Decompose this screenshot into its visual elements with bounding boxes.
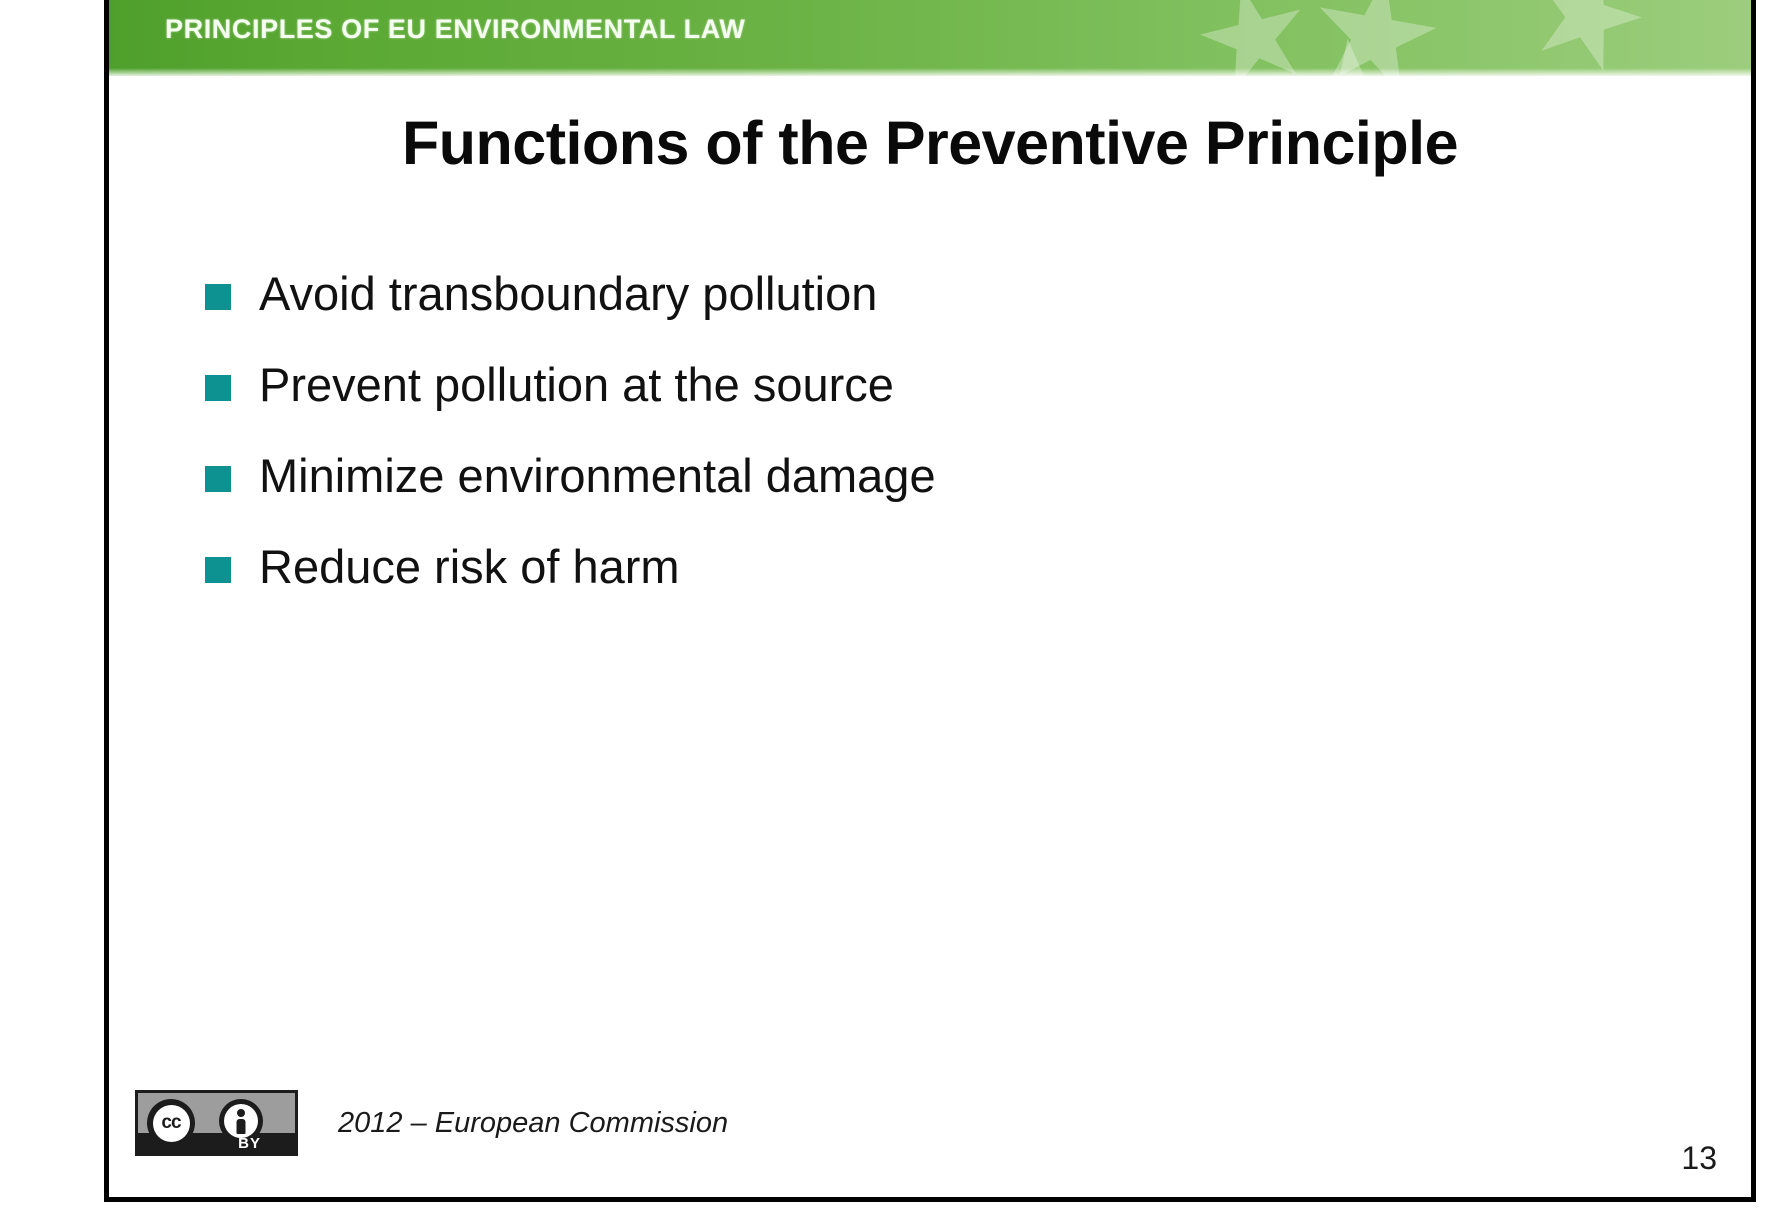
list-item-label: Reduce risk of harm — [259, 543, 680, 591]
square-bullet-icon — [205, 375, 231, 401]
badge-by-label: BY — [238, 1135, 261, 1152]
cc-logo-label: cc — [153, 1105, 190, 1142]
list-item: Minimize environmental damage — [205, 452, 1605, 500]
page-title: Functions of the Preventive Principle — [109, 108, 1751, 178]
bullet-list: Avoid transboundary pollution Prevent po… — [205, 270, 1605, 634]
cc-logo-icon: cc — [147, 1099, 195, 1147]
list-item-label: Minimize environmental damage — [259, 452, 936, 500]
footer-credit-text: 2012 – European Commission — [338, 1107, 728, 1140]
list-item: Prevent pollution at the source — [205, 361, 1605, 409]
eu-star-icon — [1295, 0, 1455, 76]
list-item-label: Avoid transboundary pollution — [259, 270, 877, 318]
eu-star-icon — [1515, 0, 1660, 76]
header-title: PRINCIPLES OF EU ENVIRONMENTAL LAW — [165, 14, 745, 45]
person-body — [237, 1119, 246, 1134]
square-bullet-icon — [205, 557, 231, 583]
person-glyph — [224, 1104, 258, 1138]
square-bullet-icon — [205, 284, 231, 310]
eu-star-icon — [1182, 0, 1325, 76]
slide-footer: cc BY 2012 – European Commission — [135, 1090, 728, 1156]
page-number: 13 — [1681, 1140, 1717, 1177]
list-item: Avoid transboundary pollution — [205, 270, 1605, 318]
slide-root: PRINCIPLES OF EU ENVIRONMENTAL LAW Funct… — [0, 0, 1792, 1214]
list-item-label: Prevent pollution at the source — [259, 361, 894, 409]
square-bullet-icon — [205, 466, 231, 492]
person-head — [237, 1109, 245, 1117]
creative-commons-by-badge-icon: cc BY — [135, 1090, 298, 1156]
list-item: Reduce risk of harm — [205, 543, 1605, 591]
eu-star-icon — [1273, 29, 1436, 76]
slide-header-band: PRINCIPLES OF EU ENVIRONMENTAL LAW — [109, 0, 1751, 76]
